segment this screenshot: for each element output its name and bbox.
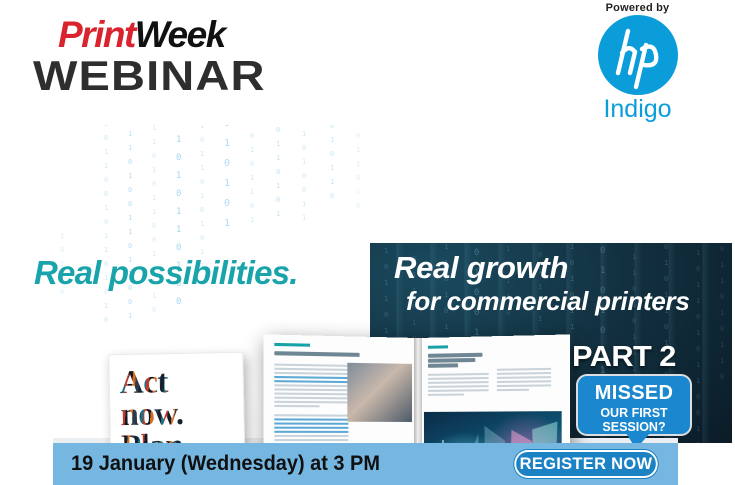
svg-text:0: 0 xyxy=(176,243,181,253)
webinar-label: WEBINAR xyxy=(33,55,266,97)
magazine-left-page: 2 xyxy=(264,334,418,443)
svg-text:1: 1 xyxy=(104,162,108,170)
svg-text:1: 1 xyxy=(224,218,230,229)
svg-text:1: 1 xyxy=(200,164,204,172)
svg-text:1: 1 xyxy=(330,178,334,186)
svg-text:1: 1 xyxy=(720,341,724,349)
svg-text:1: 1 xyxy=(176,225,181,235)
svg-text:1: 1 xyxy=(696,441,700,443)
svg-text:1: 1 xyxy=(104,246,108,254)
svg-text:1: 1 xyxy=(128,312,132,320)
indigo-wordmark: Indigo xyxy=(565,97,710,122)
svg-text:0: 0 xyxy=(276,126,280,134)
svg-text:0: 0 xyxy=(720,373,724,381)
svg-text:0: 0 xyxy=(250,160,254,168)
svg-text:0: 0 xyxy=(176,297,181,307)
svg-text:1: 1 xyxy=(632,333,636,341)
svg-text:1: 1 xyxy=(152,124,156,132)
svg-text:0: 0 xyxy=(384,263,388,271)
svg-text:1: 1 xyxy=(302,214,306,222)
headline-right-line2: for commercial printers xyxy=(406,288,690,315)
svg-text:0: 0 xyxy=(200,234,204,242)
svg-text:0: 0 xyxy=(302,186,306,194)
svg-text:1: 1 xyxy=(276,210,280,218)
svg-text:1: 1 xyxy=(152,292,156,300)
svg-text:1: 1 xyxy=(104,302,108,310)
svg-text:1: 1 xyxy=(104,148,108,156)
svg-text:0: 0 xyxy=(104,176,108,184)
svg-text:0: 0 xyxy=(250,132,254,140)
svg-text:1: 1 xyxy=(384,279,388,287)
svg-text:1: 1 xyxy=(412,319,416,327)
svg-text:0: 0 xyxy=(128,158,132,166)
svg-text:1: 1 xyxy=(152,194,156,202)
svg-text:1: 1 xyxy=(720,277,724,285)
svg-text:0: 0 xyxy=(200,206,204,214)
headline-right-line1: Real growth xyxy=(394,252,690,284)
svg-text:0: 0 xyxy=(302,172,306,180)
svg-text:1: 1 xyxy=(176,135,181,145)
svg-text:1: 1 xyxy=(224,178,230,189)
magazine-feature-image xyxy=(424,411,562,443)
svg-text:0: 0 xyxy=(356,202,360,210)
svg-text:1: 1 xyxy=(696,329,700,337)
svg-text:1: 1 xyxy=(104,204,108,212)
svg-text:0: 0 xyxy=(152,222,156,230)
svg-text:1: 1 xyxy=(276,154,280,162)
svg-text:0: 0 xyxy=(664,243,668,251)
svg-text:1: 1 xyxy=(276,140,280,148)
svg-text:0: 0 xyxy=(200,178,204,186)
register-now-button[interactable]: REGISTER NOW xyxy=(514,450,658,478)
hero-stage: 101 100 101 101 010 011 010 011 011 001 … xyxy=(0,118,735,443)
svg-text:0: 0 xyxy=(60,246,64,254)
svg-text:1: 1 xyxy=(200,192,204,200)
svg-text:1: 1 xyxy=(538,315,542,323)
svg-text:1: 1 xyxy=(128,228,132,236)
svg-text:1: 1 xyxy=(356,146,360,154)
part-label: PART 2 xyxy=(572,341,676,374)
svg-text:0: 0 xyxy=(152,306,156,314)
svg-text:0: 0 xyxy=(330,192,334,200)
svg-text:1: 1 xyxy=(696,425,700,433)
svg-text:0: 0 xyxy=(696,409,700,417)
svg-text:0: 0 xyxy=(720,245,724,253)
svg-text:0: 0 xyxy=(200,136,204,144)
bubble-line-2: OUR FIRST xyxy=(578,406,690,420)
bubble-line-1: MISSED xyxy=(578,376,690,403)
svg-text:0: 0 xyxy=(696,345,700,353)
svg-text:0: 0 xyxy=(152,236,156,244)
svg-text:1: 1 xyxy=(250,174,254,182)
svg-text:1: 1 xyxy=(128,130,132,138)
bubble-line-3: SESSION? xyxy=(578,420,690,434)
svg-text:1: 1 xyxy=(200,220,204,228)
svg-text:0: 0 xyxy=(104,134,108,142)
svg-text:0: 0 xyxy=(664,323,668,331)
svg-text:1: 1 xyxy=(276,182,280,190)
svg-text:1: 1 xyxy=(356,160,360,168)
printweek-logo: PrintWeek xyxy=(58,16,225,53)
svg-text:1: 1 xyxy=(330,164,334,172)
svg-text:1: 1 xyxy=(330,136,334,144)
svg-text:1: 1 xyxy=(152,166,156,174)
svg-text:0: 0 xyxy=(720,325,724,333)
svg-text:0: 0 xyxy=(104,316,108,324)
svg-text:0: 0 xyxy=(152,180,156,188)
svg-text:1: 1 xyxy=(250,146,254,154)
svg-text:0: 0 xyxy=(632,317,636,325)
svg-text:1: 1 xyxy=(720,261,724,269)
svg-text:1: 1 xyxy=(200,150,204,158)
svg-text:0: 0 xyxy=(224,158,230,169)
svg-text:1: 1 xyxy=(128,144,132,152)
svg-text:0: 0 xyxy=(600,326,605,336)
svg-text:1: 1 xyxy=(224,138,230,149)
svg-text:0: 0 xyxy=(720,293,724,301)
svg-text:1: 1 xyxy=(570,243,574,251)
svg-text:1: 1 xyxy=(128,214,132,222)
magazine-gutter xyxy=(414,338,422,443)
svg-text:1: 1 xyxy=(176,207,181,217)
banner-header: PrintWeek WEBINAR Powered by Indigo xyxy=(0,0,735,125)
svg-text:0: 0 xyxy=(104,190,108,198)
svg-text:1: 1 xyxy=(570,323,574,331)
svg-text:1: 1 xyxy=(302,158,306,166)
svg-text:1: 1 xyxy=(696,297,700,305)
svg-text:1: 1 xyxy=(152,208,156,216)
svg-text:0: 0 xyxy=(356,132,360,140)
svg-text:1: 1 xyxy=(720,357,724,365)
footer-bar: 19 January (Wednesday) at 3 PM REGISTER … xyxy=(53,443,678,485)
brand-week: Week xyxy=(135,14,225,55)
headline-right: Real growth for commercial printers xyxy=(394,252,690,314)
svg-text:0: 0 xyxy=(276,168,280,176)
magazine-spread-image: 2 xyxy=(268,338,566,443)
svg-text:1: 1 xyxy=(444,323,448,331)
powered-by-label: Powered by xyxy=(565,2,710,14)
svg-text:0: 0 xyxy=(128,200,132,208)
svg-text:1: 1 xyxy=(384,247,388,255)
magazine-photo-worker xyxy=(347,363,412,422)
svg-text:0: 0 xyxy=(104,218,108,226)
svg-text:0: 0 xyxy=(696,393,700,401)
act-now-poster: Act now. Plan now. xyxy=(108,352,247,443)
svg-text:1: 1 xyxy=(696,377,700,385)
svg-text:0: 0 xyxy=(384,311,388,319)
svg-text:1: 1 xyxy=(152,138,156,146)
svg-text:1: 1 xyxy=(696,281,700,289)
svg-text:1: 1 xyxy=(384,327,388,335)
svg-text:1: 1 xyxy=(302,130,306,138)
svg-text:1: 1 xyxy=(60,232,64,240)
svg-text:1: 1 xyxy=(356,188,360,196)
svg-text:1: 1 xyxy=(128,172,132,180)
svg-text:1: 1 xyxy=(696,249,700,257)
svg-text:1: 1 xyxy=(104,232,108,240)
webinar-promo-banner: 101 100 101 101 010 011 010 011 011 001 … xyxy=(0,0,735,485)
svg-text:1: 1 xyxy=(720,309,724,317)
svg-text:0: 0 xyxy=(696,265,700,273)
svg-text:0: 0 xyxy=(128,298,132,306)
magazine-right-page: 3 xyxy=(418,334,570,443)
page-kicker xyxy=(274,343,310,347)
svg-text:0: 0 xyxy=(176,189,181,199)
svg-text:0: 0 xyxy=(250,202,254,210)
svg-text:0: 0 xyxy=(176,153,181,163)
svg-text:0: 0 xyxy=(302,144,306,152)
headline-left: Real possibilities. xyxy=(34,256,298,289)
svg-text:0: 0 xyxy=(128,242,132,250)
svg-text:0: 0 xyxy=(696,313,700,321)
svg-text:0: 0 xyxy=(224,198,230,209)
svg-text:1: 1 xyxy=(696,361,700,369)
svg-text:1: 1 xyxy=(384,295,388,303)
svg-text:0: 0 xyxy=(330,150,334,158)
brand-print: Print xyxy=(58,14,135,55)
missed-session-bubble: MISSED OUR FIRST SESSION? xyxy=(578,376,690,434)
hp-indigo-logo: Indigo xyxy=(565,15,710,122)
svg-text:0: 0 xyxy=(152,152,156,160)
svg-text:1: 1 xyxy=(250,188,254,196)
svg-text:1: 1 xyxy=(302,200,306,208)
poster-text: Act now. Plan now. xyxy=(119,365,234,443)
svg-text:1: 1 xyxy=(250,216,254,224)
svg-text:0: 0 xyxy=(276,196,280,204)
svg-text:1: 1 xyxy=(176,171,181,181)
svg-text:0: 0 xyxy=(356,174,360,182)
svg-text:0: 0 xyxy=(128,186,132,194)
hp-logo-icon xyxy=(598,15,678,95)
webinar-date: 19 January (Wednesday) at 3 PM xyxy=(71,452,380,476)
